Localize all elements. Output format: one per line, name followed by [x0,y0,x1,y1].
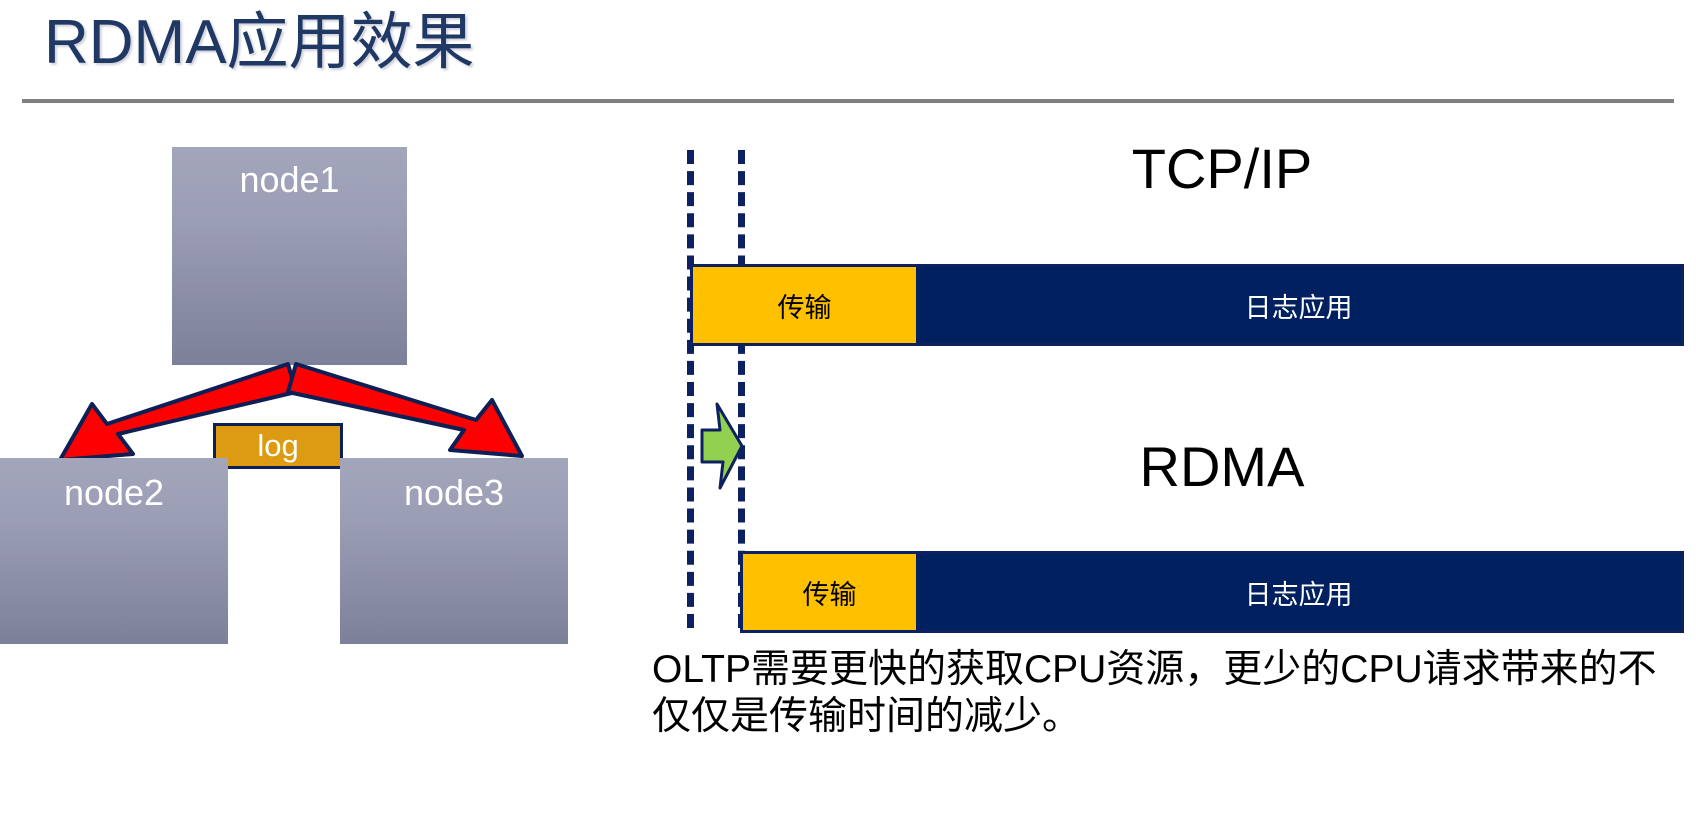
slide-caption: OLTP需要更快的获取CPU资源，更少的CPU请求带来的不仅仅是传输时间的减少。 [652,646,1672,740]
protocol-label-tcpip: TCP/IP [760,136,1684,201]
log-box: log [213,423,343,469]
bar-segment-apply-tcpip: 日志应用 [916,267,1681,343]
node-box-node3: node3 [340,458,568,644]
node2-label: node2 [64,472,164,513]
log-label: log [257,428,298,463]
dashed-guide-left [687,150,694,628]
timeline-bar-rdma: 传输 日志应用 [740,551,1684,633]
node3-label: node3 [404,472,504,513]
slide-canvas: RDMA应用效果 node1 log node2 node3 TCP/IP 传输… [0,0,1696,826]
bar-segment-apply-rdma: 日志应用 [916,554,1681,630]
node-box-node1: node1 [172,147,407,365]
node1-label: node1 [239,159,339,200]
improvement-arrow-icon [690,400,746,492]
bar-segment-transport-rdma: 传输 [743,554,916,630]
title-divider [22,99,1674,103]
protocol-label-rdma: RDMA [760,434,1684,499]
node-box-node2: node2 [0,458,228,644]
page-title: RDMA应用效果 [44,4,475,82]
timeline-bar-tcpip: 传输 日志应用 [690,264,1684,346]
bar-segment-transport-tcpip: 传输 [693,267,916,343]
